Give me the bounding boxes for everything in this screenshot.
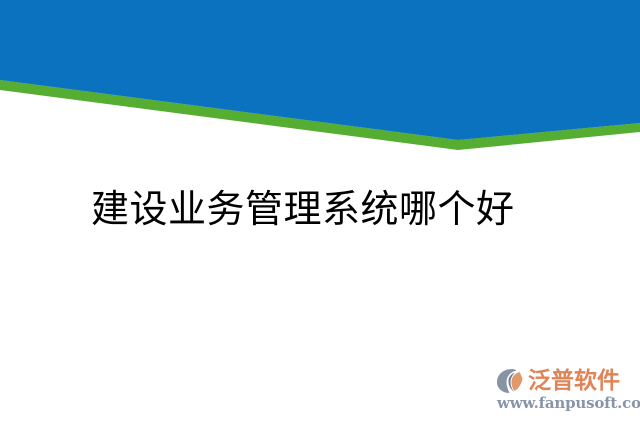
fanpu-swoosh-icon [496,366,527,395]
brand-logo: 泛普软件 www.fanpusoft.com [496,365,632,417]
logo-url: www.fanpusoft.com [497,394,640,412]
blue-banner-shape [0,0,640,140]
page-title: 建设业务管理系统哪个好 [0,183,515,235]
logo-mark-row: 泛普软件 [496,365,620,396]
logo-wordmark: 泛普软件 [528,368,620,394]
slide-canvas: 建设业务管理系统哪个好 泛普软件 www.fanpusoft.com [0,0,640,427]
title-block: 建设业务管理系统哪个好 [0,178,640,240]
chevron-banner [0,0,640,160]
